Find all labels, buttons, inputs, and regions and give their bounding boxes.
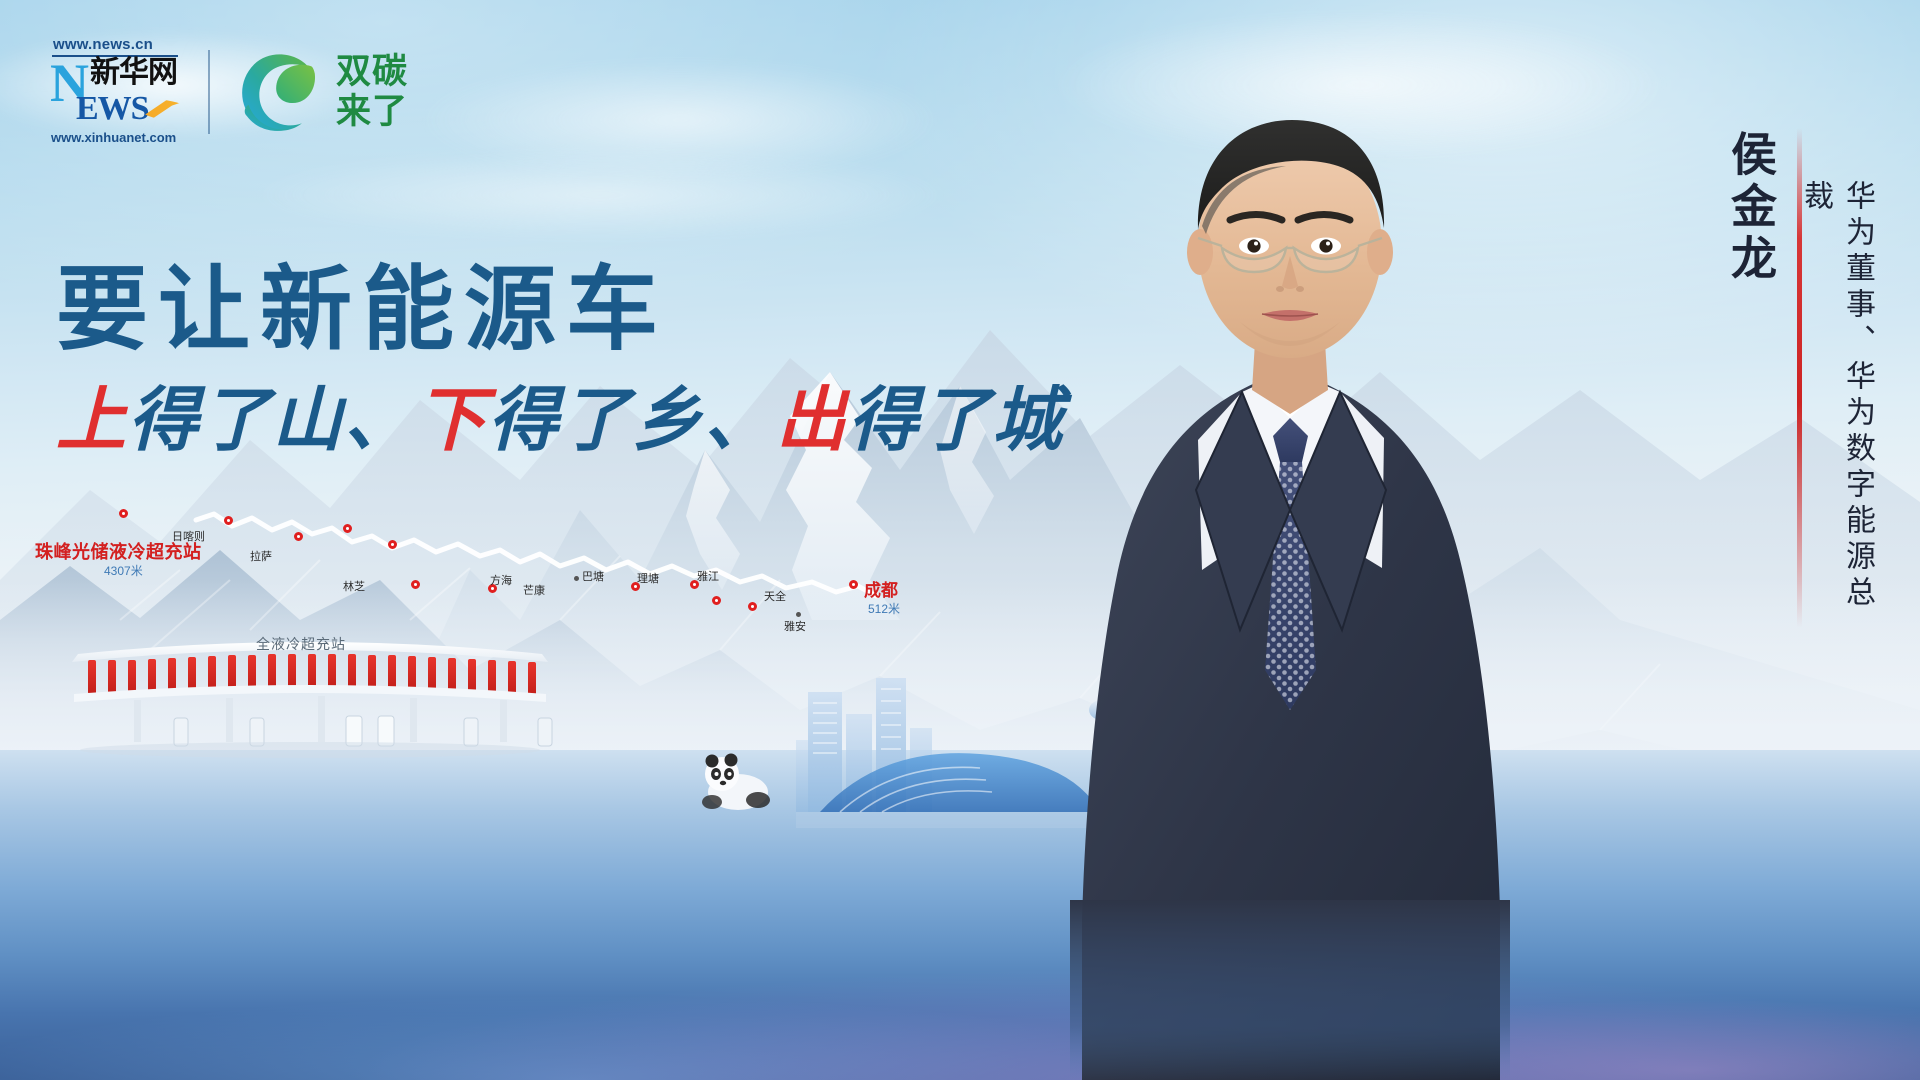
- headline-line-1: 要让新能源车: [56, 258, 1064, 362]
- poster-stage: www.news.cn N 新华网 EWS www.xinhuanet.com: [0, 0, 1920, 1080]
- route-dot-7[interactable]: [574, 576, 579, 581]
- route-label-everest-altitude: 4307米: [104, 562, 143, 579]
- route-label-fanghai: 方海: [490, 572, 512, 588]
- headline-block: 要让新能源车 上得了山、下得了乡、出得了城: [56, 258, 1064, 462]
- route-label-mangkang: 芒康: [523, 582, 545, 598]
- xinhua-chinese-name: 新华网: [90, 58, 177, 88]
- program-logo[interactable]: 双碳 来了: [232, 46, 408, 138]
- route-label-yaan: 雅安: [784, 618, 806, 634]
- dual-carbon-leaf-icon: [232, 46, 324, 138]
- route-label-chengdu-altitude: 512米: [868, 600, 900, 617]
- station-name-label: 全液冷超充站: [256, 634, 346, 654]
- guest-title: 华为董事、华为数字能源总裁: [1794, 180, 1878, 640]
- water-sheen: [0, 830, 1920, 1080]
- guest-portrait: [990, 70, 1590, 1080]
- route-label-lhasa: 拉萨: [250, 548, 272, 564]
- program-title: 双碳 来了: [336, 52, 408, 132]
- headline-blue-2: 得了乡、: [488, 381, 776, 459]
- route-label-tianquan: 天全: [764, 588, 786, 604]
- headline-red-3: 出: [776, 381, 848, 459]
- route-dot-11[interactable]: [748, 602, 757, 611]
- route-dot-1[interactable]: [224, 516, 233, 525]
- route-dot-everest[interactable]: [119, 509, 128, 518]
- headline-line-2: 上得了山、下得了乡、出得了城: [56, 378, 1064, 462]
- route-label-rikaze: 日喀则: [172, 528, 205, 544]
- headline-red-1: 上: [56, 381, 128, 459]
- program-title-line1: 双碳: [336, 52, 408, 92]
- route-dot-10[interactable]: [712, 596, 721, 605]
- panda-illustration: [702, 754, 770, 811]
- route-label-chengdu: 成都: [864, 576, 898, 601]
- route-label-batang: 巴塘: [582, 568, 604, 584]
- xinhuanet-logo[interactable]: www.news.cn N 新华网 EWS www.xinhuanet.com: [46, 36, 186, 148]
- route-dot-chengdu[interactable]: [849, 580, 858, 589]
- xinhua-url-bottom: www.xinhuanet.com: [51, 130, 176, 145]
- logo-divider: [208, 50, 210, 134]
- program-title-line2: 来了: [336, 92, 408, 132]
- route-dot-3[interactable]: [343, 524, 352, 533]
- xinhua-url-top: www.news.cn: [53, 36, 153, 53]
- route-dot-5[interactable]: [411, 580, 420, 589]
- route-dot-12[interactable]: [796, 612, 801, 617]
- route-label-nyingchi: 林芝: [343, 578, 365, 594]
- xinhua-news-word: EWS: [76, 92, 149, 126]
- portrait-svg: [990, 70, 1590, 1080]
- logo-bar: www.news.cn N 新华网 EWS www.xinhuanet.com: [46, 36, 408, 148]
- guest-name: 侯金龙: [1722, 130, 1780, 286]
- route-dot-2[interactable]: [294, 532, 303, 541]
- charging-station-illustration: 全液冷超充站: [60, 620, 560, 760]
- headline-red-2: 下: [416, 381, 488, 459]
- route-label-litang: 理塘: [637, 570, 659, 586]
- headline-blue-1: 得了山、: [128, 381, 416, 459]
- route-label-yajiang: 雅江: [697, 568, 719, 584]
- route-dot-4[interactable]: [388, 540, 397, 549]
